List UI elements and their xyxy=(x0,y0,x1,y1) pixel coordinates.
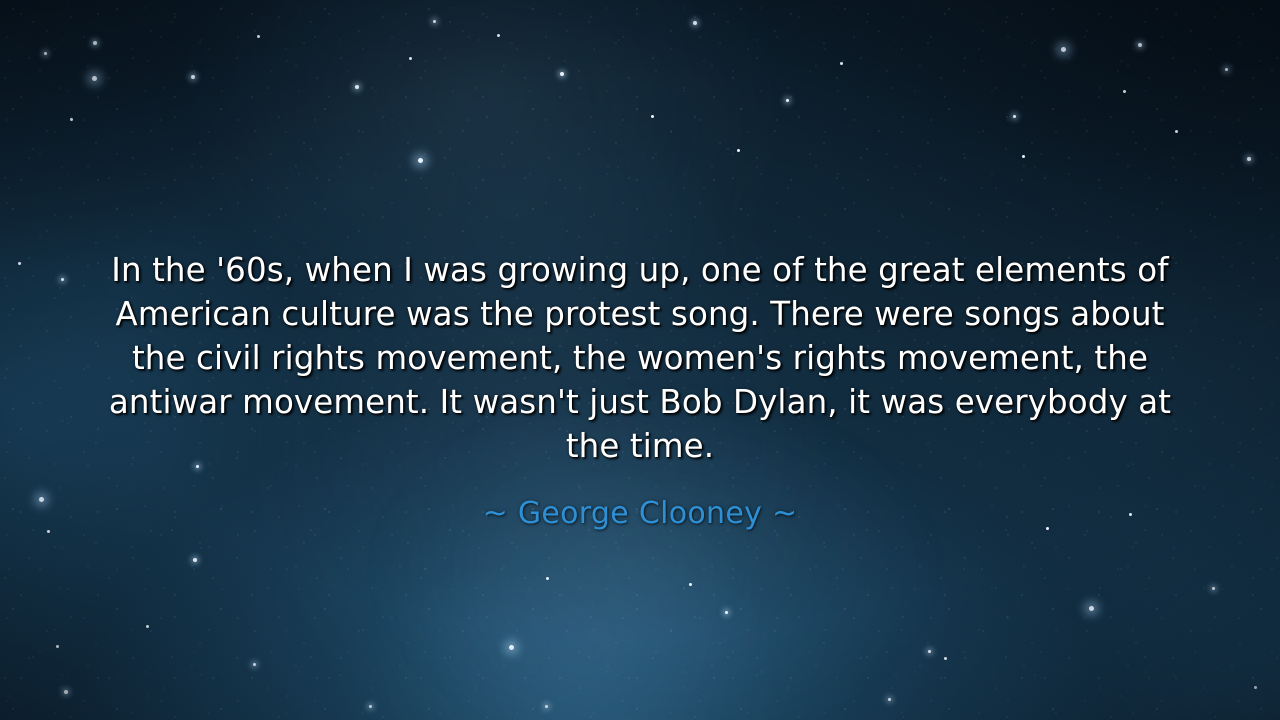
star xyxy=(1061,47,1066,52)
star xyxy=(1138,43,1142,47)
star xyxy=(689,583,692,586)
star xyxy=(1123,90,1126,93)
star xyxy=(409,57,412,60)
star xyxy=(191,75,195,79)
star xyxy=(93,41,97,45)
star xyxy=(64,690,68,694)
star xyxy=(257,35,260,38)
star xyxy=(44,52,47,55)
star xyxy=(1212,587,1215,590)
quote-card: In the '60s, when I was growing up, one … xyxy=(0,0,1280,720)
star xyxy=(193,558,197,562)
star xyxy=(1175,130,1178,133)
star xyxy=(560,72,564,76)
star xyxy=(693,21,697,25)
star xyxy=(433,20,436,23)
star xyxy=(92,76,97,81)
star xyxy=(369,705,372,708)
star xyxy=(840,62,843,65)
star xyxy=(737,149,740,152)
star xyxy=(1089,606,1094,611)
star xyxy=(928,650,931,653)
star xyxy=(725,611,728,614)
star xyxy=(1013,115,1016,118)
star xyxy=(146,625,149,628)
quote-text: In the '60s, when I was growing up, one … xyxy=(94,248,1186,468)
star xyxy=(1254,686,1257,689)
star xyxy=(418,158,423,163)
star xyxy=(888,698,891,701)
star xyxy=(355,85,359,89)
star xyxy=(253,663,256,666)
quote-content: In the '60s, when I was growing up, one … xyxy=(0,248,1280,533)
star xyxy=(1022,155,1025,158)
star xyxy=(509,645,514,650)
star xyxy=(1247,157,1251,161)
star xyxy=(1225,68,1228,71)
star xyxy=(786,99,789,102)
star xyxy=(546,577,549,580)
star xyxy=(497,34,500,37)
star xyxy=(545,705,548,708)
quote-attribution: ~ George Clooney ~ xyxy=(76,495,1204,533)
star xyxy=(70,118,73,121)
star xyxy=(944,657,947,660)
star xyxy=(651,115,654,118)
star xyxy=(56,645,59,648)
